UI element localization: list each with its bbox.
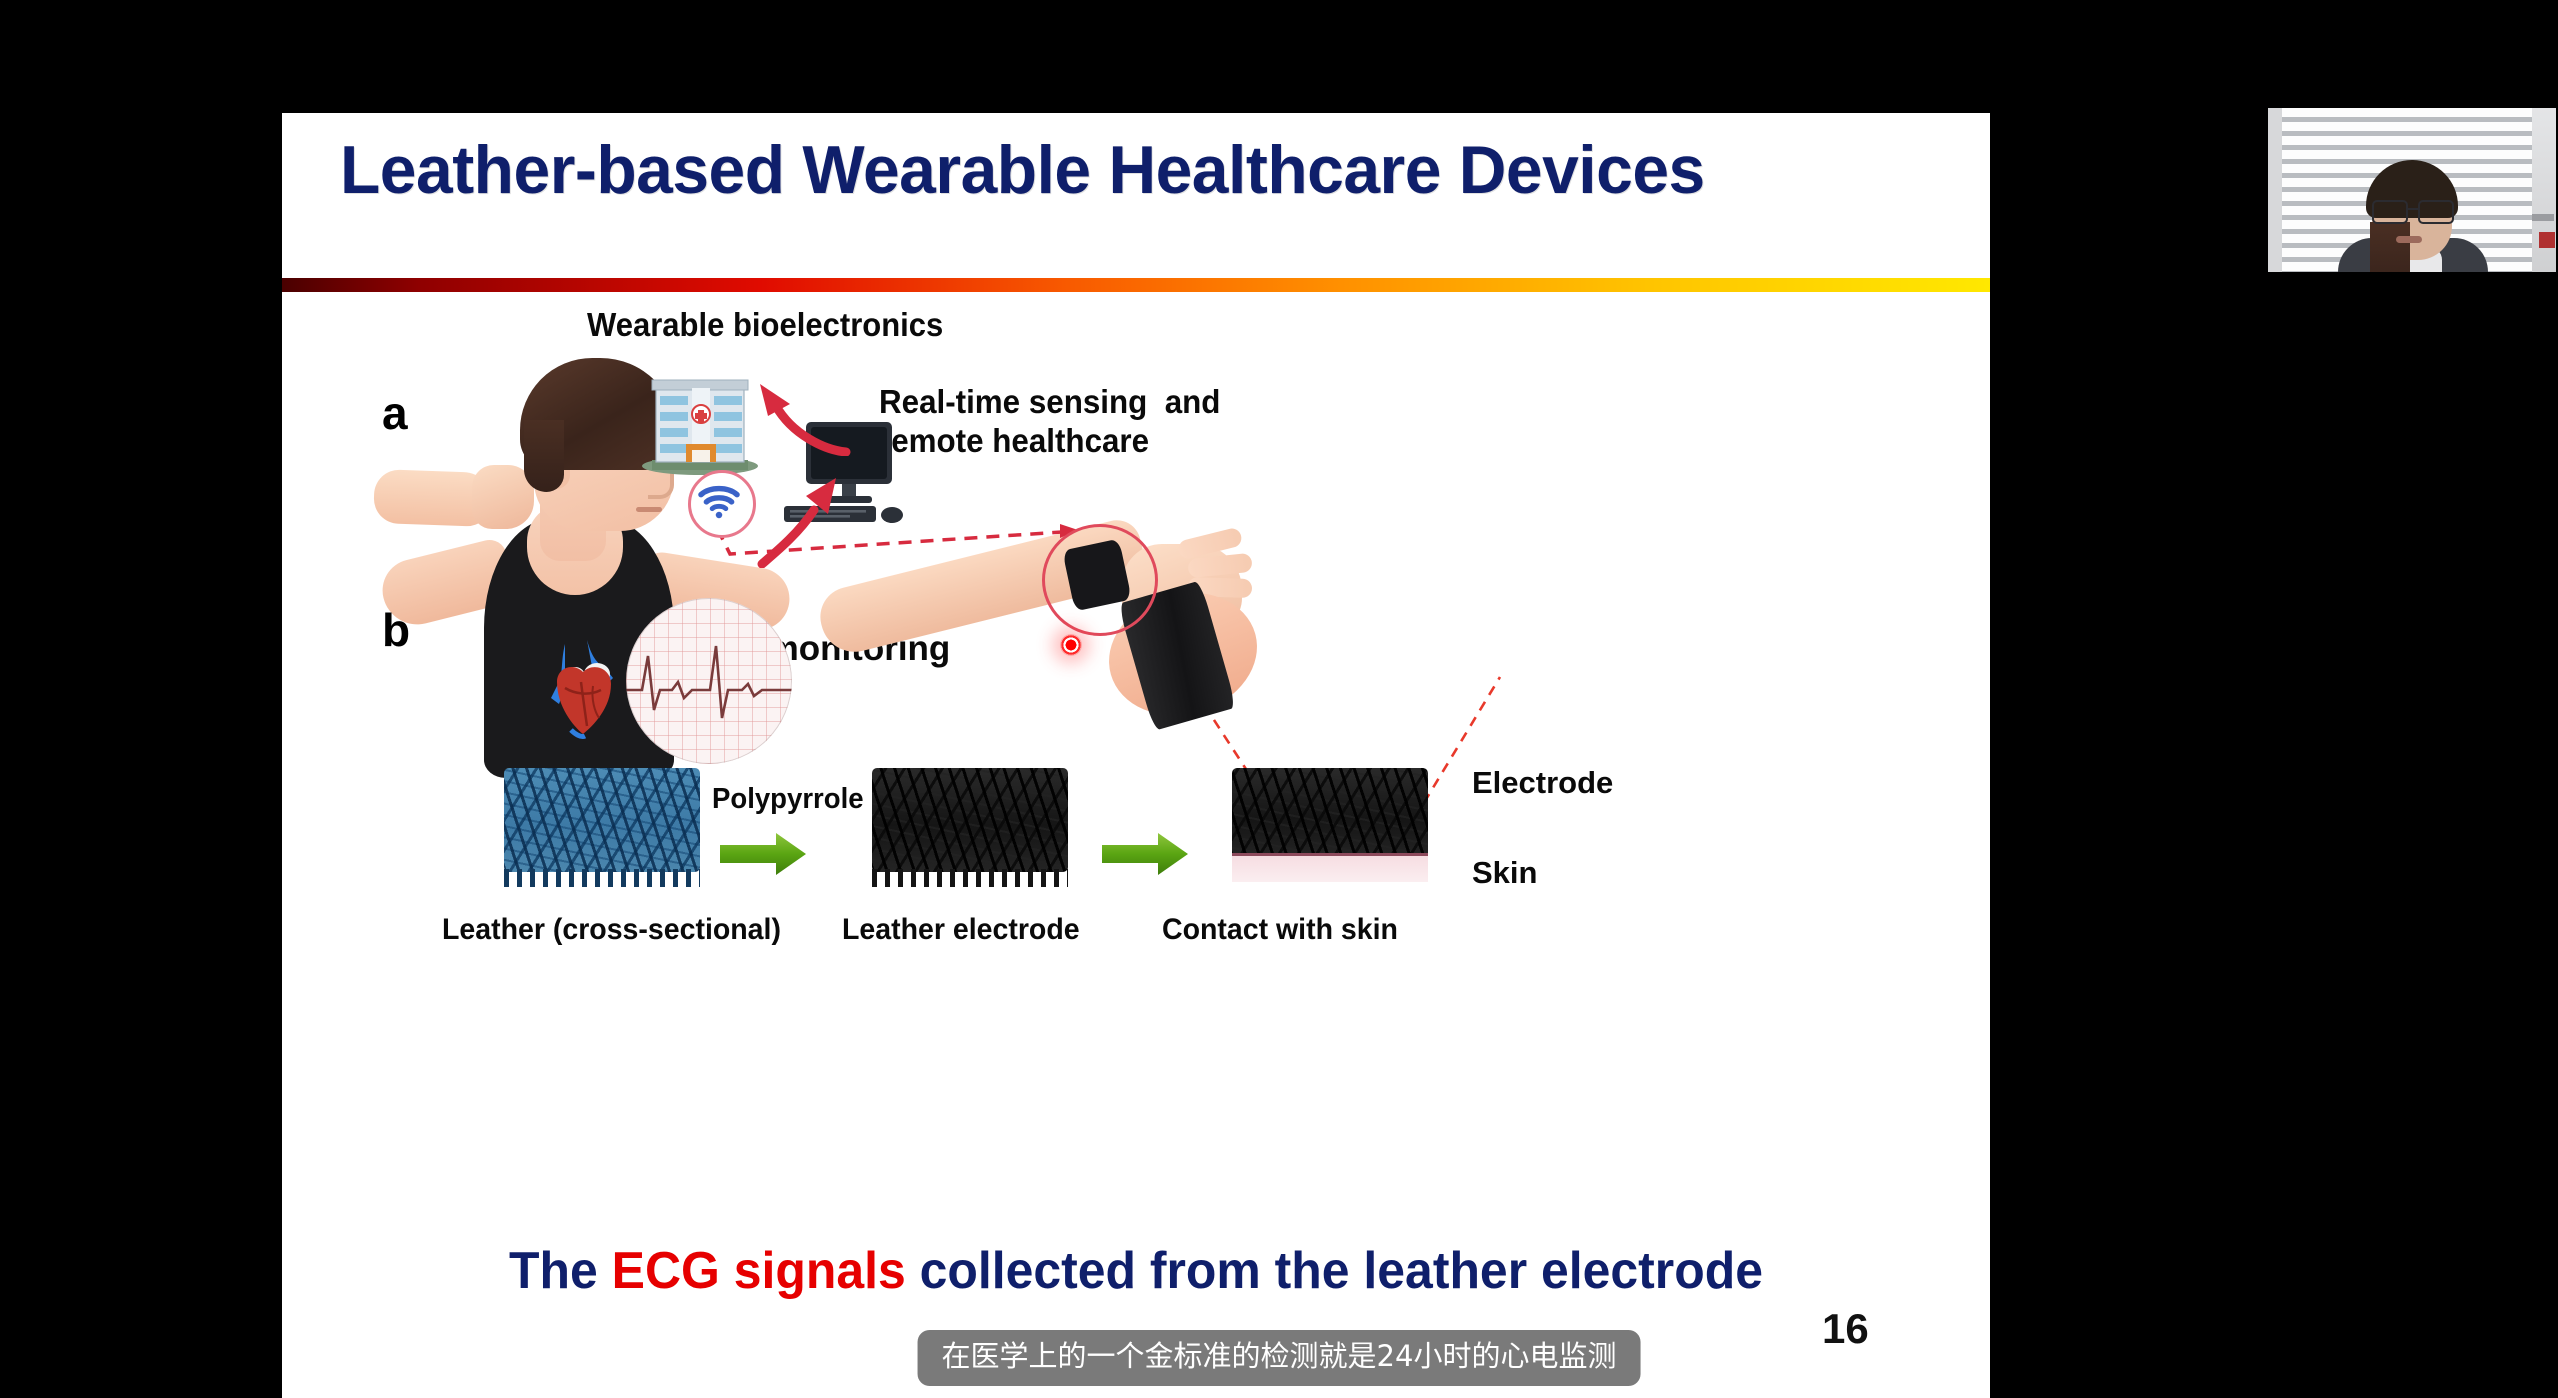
mouth [636,507,662,512]
subtitle-overlay: 在医学上的一个金标准的检测就是24小时的心电监测 [918,1330,1641,1386]
caption-part-2: collected from the leather electrode [906,1242,1763,1300]
step-caption-leather: Leather (cross-sectional) [442,913,781,947]
webcam-red-object [2539,232,2555,248]
figure-panel-a: a Wearable bioelectronics Real-time sens… [282,298,1990,798]
slide-title-area: Leather-based Wearable Healthcare Device… [282,113,1990,278]
anatomical-heart-icon [535,638,631,740]
wearable-bioelectronics-label: Wearable bioelectronics [587,306,943,345]
process-arrow-icon [720,831,806,877]
leather-fringe [872,869,1068,887]
leather-cross-section-graphic [504,768,700,872]
skin-layer [1232,853,1428,882]
annotation-electrode: Electrode [1472,765,1613,801]
wifi-signal-icon [688,470,756,538]
glasses-lens-left [2372,200,2408,224]
figure-panel-b: b Leather (cross-sectional) Polypyrrole [282,813,1990,1233]
red-curved-arrow-to-hospital-icon [754,382,854,456]
process-arrow-icon [1102,831,1188,877]
annotation-skin: Skin [1472,855,1537,891]
page-title: Leather-based Wearable Healthcare Device… [340,131,1892,209]
caption-part-1: The [509,1242,612,1300]
slide-bottom-caption: The ECG signals collected from the leath… [316,1241,1956,1301]
slide-canvas: Leather-based Wearable Healthcare Device… [282,113,1990,1398]
wristband-highlight-circle [1042,524,1158,636]
presentation-stage: Leather-based Wearable Healthcare Device… [0,0,2558,1398]
step-caption-electrode: Leather electrode [842,913,1080,947]
leather-fringe [504,869,700,887]
ecg-waveform-icon [626,598,792,764]
electrode-on-skin-graphic [1232,768,1428,860]
webcam-shelf [2532,214,2554,221]
polypyrrole-label: Polypyrrole [712,783,864,816]
subtitle-text: 在医学上的一个金标准的检测就是24小时的心电监测 [942,1339,1617,1374]
glasses-lens-right [2418,200,2454,224]
glasses-icon [2372,200,2454,220]
title-divider-bar [282,278,1990,292]
slide-number: 16 [1822,1305,1869,1353]
red-glow-dot-icon [1060,634,1082,656]
step-caption-contact: Contact with skin [1162,913,1398,947]
hospital-building-icon [634,368,766,476]
wireless-link-dashed-line [712,498,1082,568]
realtime-sensing-label: Real-time sensing and remote healthcare [879,383,1220,461]
wifi-arcs-icon [691,473,747,529]
leather-electrode-graphic [872,768,1068,872]
caption-highlight: ECG signals [612,1242,906,1300]
presenter-video-tile[interactable] [2268,108,2556,272]
ecg-waveform-inset [626,598,792,764]
presenter-mouth [2396,236,2422,243]
panel-letter-b: b [382,603,410,657]
